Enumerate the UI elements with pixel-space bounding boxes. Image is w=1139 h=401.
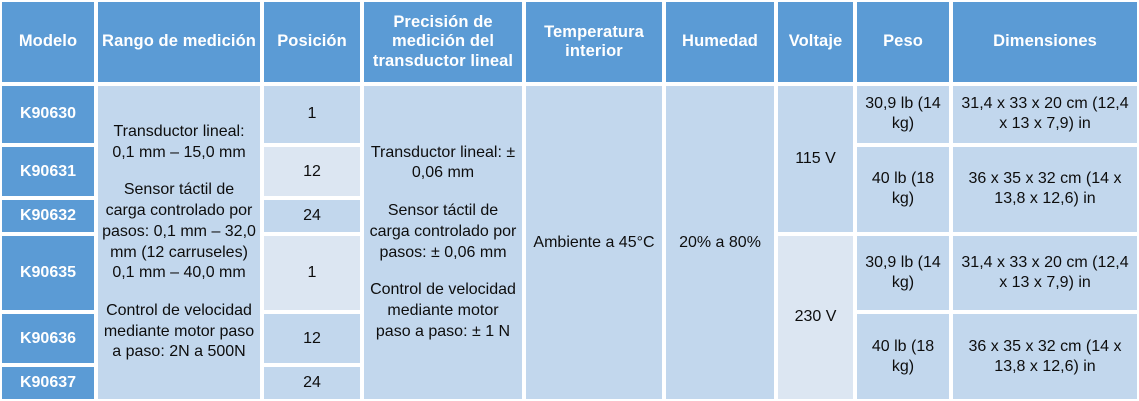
cell-peso: 30,9 lb (14 kg) xyxy=(855,84,951,145)
cell-modelo: K90630 xyxy=(0,84,96,145)
cell-peso: 40 lb (18 kg) xyxy=(855,312,951,401)
cell-posicion: 1 xyxy=(262,234,362,313)
cell-posicion: 24 xyxy=(262,365,362,401)
cell-dimensiones: 31,4 x 33 x 20 cm (12,4 x 13 x 7,9) in xyxy=(951,84,1139,145)
cell-voltaje: 115 V xyxy=(776,84,855,234)
column-header-modelo: Modelo xyxy=(0,0,96,84)
cell-voltaje: 230 V xyxy=(776,234,855,401)
cell-modelo: K90632 xyxy=(0,198,96,234)
cell-posicion: 1 xyxy=(262,84,362,145)
cell-modelo: K90631 xyxy=(0,145,96,198)
column-header-precision: Precisión de medición del transductor li… xyxy=(362,0,524,84)
column-header-rango: Rango de medición xyxy=(96,0,262,84)
cell-peso: 40 lb (18 kg) xyxy=(855,145,951,234)
specification-table: Modelo Rango de medición Posición Precis… xyxy=(0,0,1139,401)
column-header-temperatura: Temperatura interior xyxy=(524,0,664,84)
cell-posicion: 12 xyxy=(262,312,362,365)
column-header-humedad: Humedad xyxy=(664,0,776,84)
cell-rango-medicion: Transductor lineal: 0,1 mm – 15,0 mmSens… xyxy=(96,84,262,401)
cell-precision-medicion: Transductor lineal: ± 0,06 mmSensor táct… xyxy=(362,84,524,401)
table-row: K90630 Transductor lineal: 0,1 mm – 15,0… xyxy=(0,84,1139,145)
cell-modelo: K90636 xyxy=(0,312,96,365)
cell-dimensiones: 36 x 35 x 32 cm (14 x 13,8 x 12,6) in xyxy=(951,145,1139,234)
cell-dimensiones: 31,4 x 33 x 20 cm (12,4 x 13 x 7,9) in xyxy=(951,234,1139,313)
table-header-row: Modelo Rango de medición Posición Precis… xyxy=(0,0,1139,84)
column-header-voltaje: Voltaje xyxy=(776,0,855,84)
cell-modelo: K90635 xyxy=(0,234,96,313)
cell-humedad: 20% a 80% xyxy=(664,84,776,401)
column-header-posicion: Posición xyxy=(262,0,362,84)
cell-modelo: K90637 xyxy=(0,365,96,401)
cell-posicion: 24 xyxy=(262,198,362,234)
cell-peso: 30,9 lb (14 kg) xyxy=(855,234,951,313)
column-header-peso: Peso xyxy=(855,0,951,84)
cell-temperatura-interior: Ambiente a 45°C xyxy=(524,84,664,401)
cell-dimensiones: 36 x 35 x 32 cm (14 x 13,8 x 12,6) in xyxy=(951,312,1139,401)
cell-posicion: 12 xyxy=(262,145,362,198)
column-header-dimensiones: Dimensiones xyxy=(951,0,1139,84)
